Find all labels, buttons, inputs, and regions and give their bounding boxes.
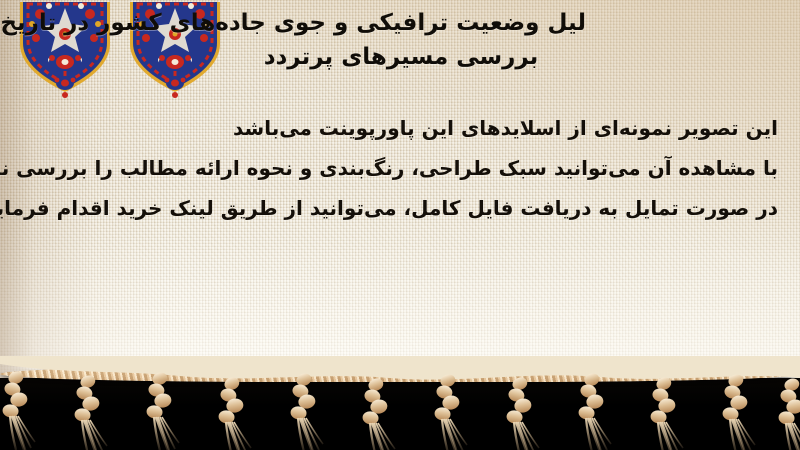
carpet-fringe-tassels-icon [0,356,800,450]
body-line-1: این تصویر نمونه‌ای از اسلایدهای این پاور… [22,108,778,148]
slide-title: لیل وضعیت ترافیکی و جوی جاده‌های کشور در… [16,6,786,74]
slide-body: این تصویر نمونه‌ای از اسلایدهای این پاور… [22,108,778,228]
body-line-2: با مشاهده آن می‌توانید سبک طراحی، رنگ‌بن… [22,148,778,188]
title-line-1: لیل وضعیت ترافیکی و جوی جاده‌های کشور در… [16,6,586,40]
body-line-3: در صورت تمایل به دریافت فایل کامل، می‌تو… [22,188,778,228]
cloth-edge [0,356,800,380]
title-line-2: بررسی مسیرهای پرتردد [16,40,786,74]
slide-root: لیل وضعیت ترافیکی و جوی جاده‌های کشور در… [0,0,800,450]
carpet-fringe-band [0,356,800,450]
